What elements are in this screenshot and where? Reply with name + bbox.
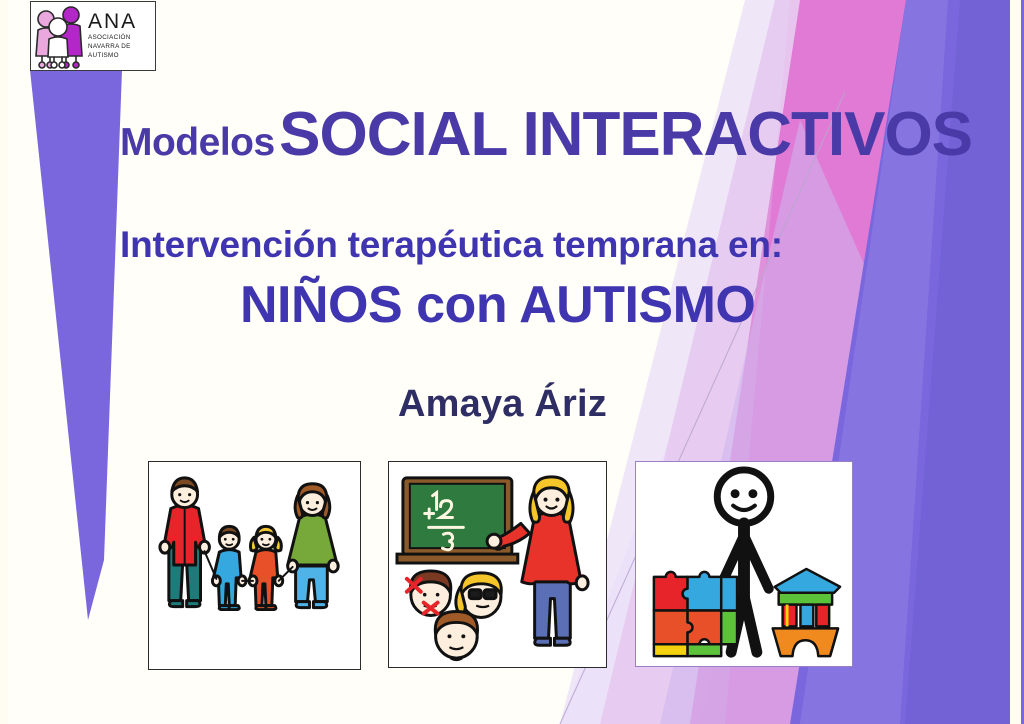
left-purple-wedge (30, 70, 122, 620)
logo-acronym: ANA (88, 11, 137, 32)
family-pictogram (148, 461, 361, 670)
ana-figures-icon (33, 3, 85, 69)
left-cream-strip (0, 0, 8, 724)
autism-pictogram (635, 461, 853, 667)
classroom-pictogram-image (389, 462, 606, 667)
autism-pictogram-image (636, 462, 852, 666)
subtitle-line-1: Intervención terapéutica temprana en: (120, 224, 783, 266)
title-main: SOCIAL INTERACTIVOS (279, 100, 972, 169)
presentation-slide: ANA ASOCIACIÓN NAVARRA DE AUTISMO Modelo… (0, 0, 1024, 724)
puzzle-pieces (654, 572, 737, 656)
boy-figure (212, 526, 246, 609)
author-name: Amaya Áriz (398, 383, 607, 426)
building-blocks (773, 569, 840, 656)
ana-logo: ANA ASOCIACIÓN NAVARRA DE AUTISMO (30, 1, 156, 71)
logo-subtitle-line3: AUTISMO (88, 52, 137, 61)
right-cream-strip (1010, 0, 1021, 724)
logo-subtitle-line2: NAVARRA DE (88, 43, 137, 52)
child-no-speech-head (407, 571, 451, 616)
title-lead: Modelos (120, 121, 275, 164)
child-plain-head (435, 612, 477, 661)
father-figure (160, 478, 210, 607)
logo-subtitle-line1: ASOCIACIÓN (88, 34, 137, 43)
logo-subtitle: ASOCIACIÓN NAVARRA DE AUTISMO (88, 34, 137, 61)
classroom-pictogram (388, 461, 607, 668)
subtitle-line-2: NIÑOS con AUTISMO (240, 275, 755, 335)
mother-figure (288, 484, 339, 608)
family-pictogram-image (149, 462, 360, 669)
girl-figure (249, 526, 283, 609)
page-title: Modelos SOCIAL INTERACTIVOS (120, 99, 972, 170)
